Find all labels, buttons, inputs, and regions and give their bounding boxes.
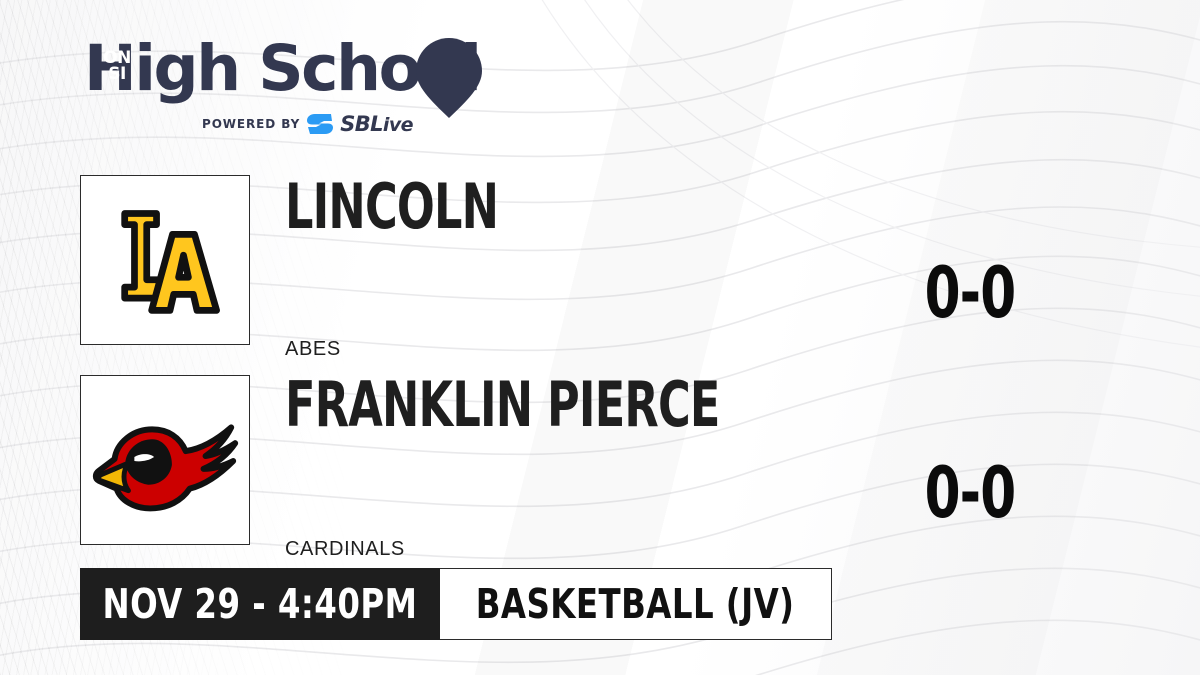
team-mascot-away: CARDINALS	[285, 538, 405, 561]
on-si-badge-text: ON SI	[84, 50, 150, 130]
game-datetime-text: NOV 29 - 4:40PM	[103, 580, 418, 628]
team-name-away: FRANKLIN PIERCE	[285, 374, 720, 436]
powered-by-label: POWERED BY	[202, 117, 300, 131]
sblive-tail-part: ive	[383, 114, 413, 136]
powered-by-lockup: POWERED BY SBLive	[202, 112, 413, 136]
on-si-line-2: SI	[84, 66, 150, 82]
team-record-away: 0-0	[888, 458, 1052, 528]
team-mascot-home: ABES	[285, 338, 341, 361]
game-datetime-panel: NOV 29 - 4:40PM	[80, 568, 440, 640]
team-record-home: 0-0	[888, 258, 1052, 328]
cardinal-head-logo	[81, 376, 249, 544]
game-sport-panel: BASKETBALL (JV)	[440, 568, 832, 640]
team-logo-box-home	[80, 175, 250, 345]
game-info-bar: NOV 29 - 4:40PM BASKETBALL (JV)	[80, 568, 832, 640]
team-logo-box-away	[80, 375, 250, 545]
team-name-home: LINCOLN	[285, 176, 498, 238]
matchup-graphic: High School ON SI POWERED BY SBLive	[0, 0, 1200, 675]
sblive-wordmark: SBLive	[340, 112, 413, 136]
sblive-bolt-icon	[307, 114, 333, 134]
game-sport-text: BASKETBALL (JV)	[476, 580, 795, 628]
brand-lockup: High School ON SI POWERED BY SBLive	[84, 36, 504, 136]
on-si-pin-icon	[416, 38, 482, 118]
sblive-bold-part: SBL	[340, 112, 383, 136]
lincoln-la-monogram-logo	[81, 176, 249, 344]
